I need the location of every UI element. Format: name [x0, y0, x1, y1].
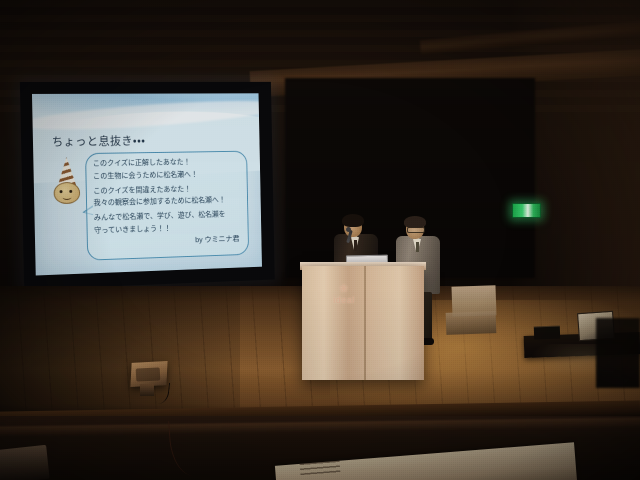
stage-floor-monitor-grille — [136, 367, 161, 381]
mascot-face — [53, 182, 80, 204]
speaker-left-tie — [354, 240, 357, 251]
audience-seat-back — [0, 445, 50, 480]
balloon-line-3: このクイズを間違えたあなた！ — [93, 183, 241, 196]
speech-balloon: このクイズに正解したあなた！ この生物に会うために松名瀬へ！ このクイズを間違え… — [85, 151, 249, 261]
mascot-mouth — [62, 195, 71, 200]
stage-right-shadow — [596, 318, 640, 388]
mascot-eye-right — [69, 190, 72, 193]
speaker-right-glasses-icon — [407, 227, 425, 233]
stage-floor-shadow-left — [0, 286, 240, 420]
podium-logo-text: ideal — [333, 295, 355, 305]
av-equipment-box — [534, 326, 560, 340]
podium-logo-mark-icon: ❀ — [324, 284, 364, 296]
umimina-mascot-icon — [50, 157, 84, 209]
projection-screen: ちょっと息抜き・・・ このクイズに正解したあなた！ この生物に会うために松名瀬へ… — [20, 82, 275, 290]
microphone-capsule-icon — [346, 227, 351, 232]
balloon-line-5: みんなで松名瀬で、学び、遊び、松名瀬を — [94, 209, 242, 223]
balloon-line-4: 我々の観察会に参加するために松名瀬へ！ — [94, 195, 242, 208]
emergency-exit-sign-icon — [512, 203, 541, 218]
stage-chair-seat — [446, 311, 497, 335]
balloon-line-1: このクイズに正解したあなた！ — [93, 157, 241, 169]
balloon-line-6: 守っていきましょう！！ — [94, 221, 242, 235]
podium-logo: ❀ ideal — [324, 284, 364, 314]
speaker-right-tie — [416, 242, 419, 252]
slide-title: ちょっと息抜き・・・ — [52, 133, 146, 150]
speaker-left-hair — [342, 214, 364, 227]
projection-screen-surface: ちょっと息抜き・・・ このクイズに正解したあなた！ この生物に会うために松名瀬へ… — [32, 93, 262, 275]
balloon-signature: by ウミニナ君 — [94, 234, 242, 249]
podium-panel-seam — [364, 266, 366, 380]
balloon-line-2: この生物に会うために松名瀬へ！ — [93, 169, 241, 181]
mascot-eye-left — [59, 190, 62, 193]
lecture-hall-photo: ちょっと息抜き・・・ このクイズに正解したあなた！ この生物に会うために松名瀬へ… — [0, 0, 640, 480]
